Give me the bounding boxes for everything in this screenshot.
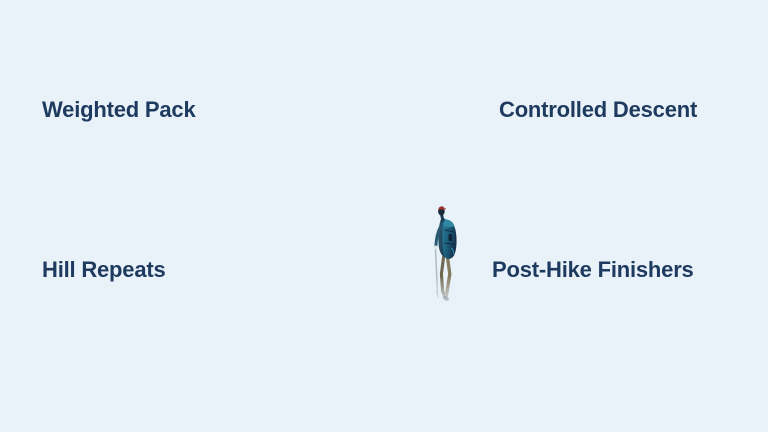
- hiker-back-leg: [441, 257, 444, 296]
- hiker-image: [418, 196, 476, 308]
- hiker-boot-front: [444, 298, 449, 301]
- quadrant-label-top-left: Weighted Pack: [42, 97, 195, 123]
- slide-canvas: Weighted Pack Controlled Descent Hill Re…: [0, 0, 768, 432]
- hiker-front-leg: [446, 258, 450, 297]
- quadrant-label-bottom-left: Hill Repeats: [42, 257, 166, 283]
- trekking-pole-icon: [435, 247, 437, 296]
- backpack-pocket: [449, 234, 452, 241]
- hiker-cap-icon: [438, 206, 444, 209]
- hiker-neck: [442, 216, 443, 221]
- hiker-hand: [434, 246, 438, 250]
- hiker-with-backpack-icon: [418, 196, 476, 308]
- quadrant-label-bottom-right: Post-Hike Finishers: [492, 257, 694, 283]
- backpack-lid: [444, 220, 455, 228]
- quadrant-label-top-right: Controlled Descent: [499, 97, 697, 123]
